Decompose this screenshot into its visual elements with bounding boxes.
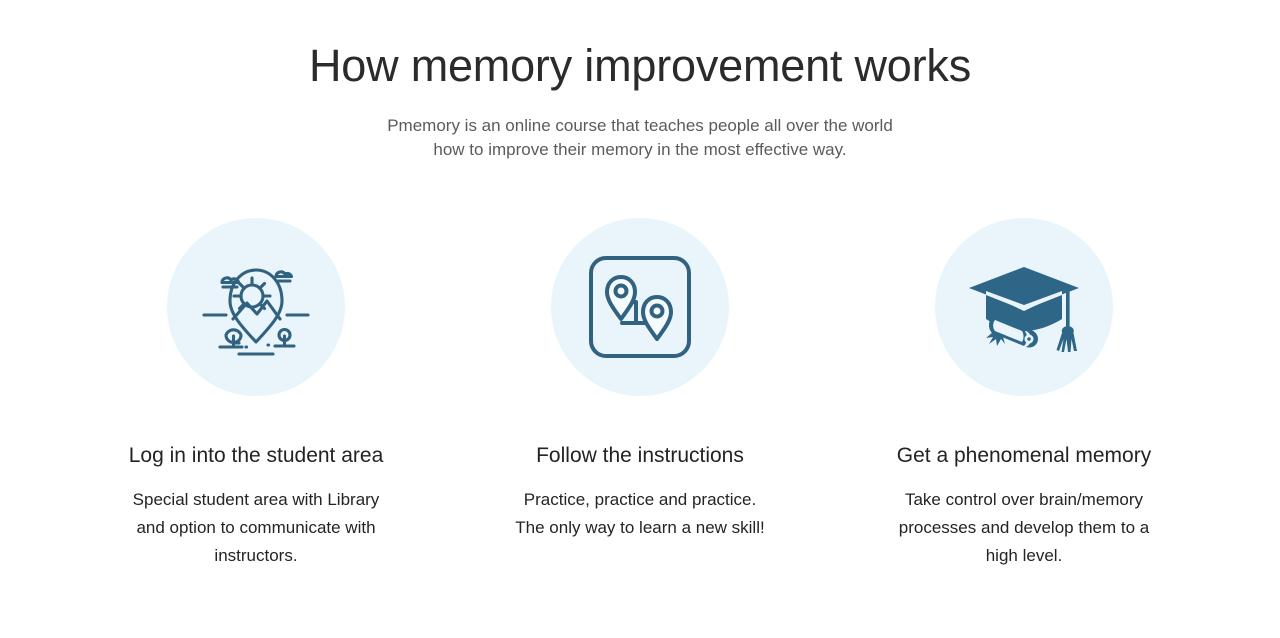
page-subtitle-line-1: Pmemory is an online course that teaches…	[330, 114, 950, 139]
section-header: How memory improvement works Pmemory is …	[0, 0, 1280, 163]
icon-circle-1	[167, 218, 345, 396]
feature-text-instructions: Practice, practice and practice. The onl…	[490, 486, 790, 542]
feature-text-memory: Take control over brain/memory processes…	[874, 486, 1174, 570]
page-subtitle-line-2: how to improve their memory in the most …	[330, 138, 950, 163]
feature-text-line: Special student area with Library	[106, 486, 406, 514]
feature-text-login: Special student area with Library and op…	[106, 486, 406, 570]
feature-text-line: instructors.	[106, 542, 406, 570]
feature-column-instructions: Follow the instructions Practice, practi…	[448, 218, 832, 570]
feature-title-memory: Get a phenomenal memory	[897, 443, 1151, 469]
page-title: How memory improvement works	[0, 40, 1280, 92]
icon-circle-2	[551, 218, 729, 396]
location-pin-landscape-icon	[200, 251, 312, 363]
feature-text-line: Practice, practice and practice.	[490, 486, 790, 514]
graduation-cap-diploma-icon	[962, 245, 1086, 369]
feature-text-line: and option to communicate with	[106, 514, 406, 542]
feature-title-instructions: Follow the instructions	[536, 443, 744, 469]
how-it-works-section: How memory improvement works Pmemory is …	[0, 0, 1280, 638]
feature-title-login: Log in into the student area	[129, 443, 384, 469]
icon-circle-3	[935, 218, 1113, 396]
feature-column-memory: Get a phenomenal memory Take control ove…	[832, 218, 1216, 570]
feature-column-login: Log in into the student area Special stu…	[64, 218, 448, 570]
page-subtitle: Pmemory is an online course that teaches…	[330, 114, 950, 163]
feature-text-line: processes and develop them to a	[874, 514, 1174, 542]
feature-text-line: high level.	[874, 542, 1174, 570]
feature-columns: Log in into the student area Special stu…	[0, 218, 1280, 570]
map-route-pins-icon	[581, 248, 699, 366]
feature-text-line: Take control over brain/memory	[874, 486, 1174, 514]
feature-text-line: The only way to learn a new skill!	[490, 514, 790, 542]
